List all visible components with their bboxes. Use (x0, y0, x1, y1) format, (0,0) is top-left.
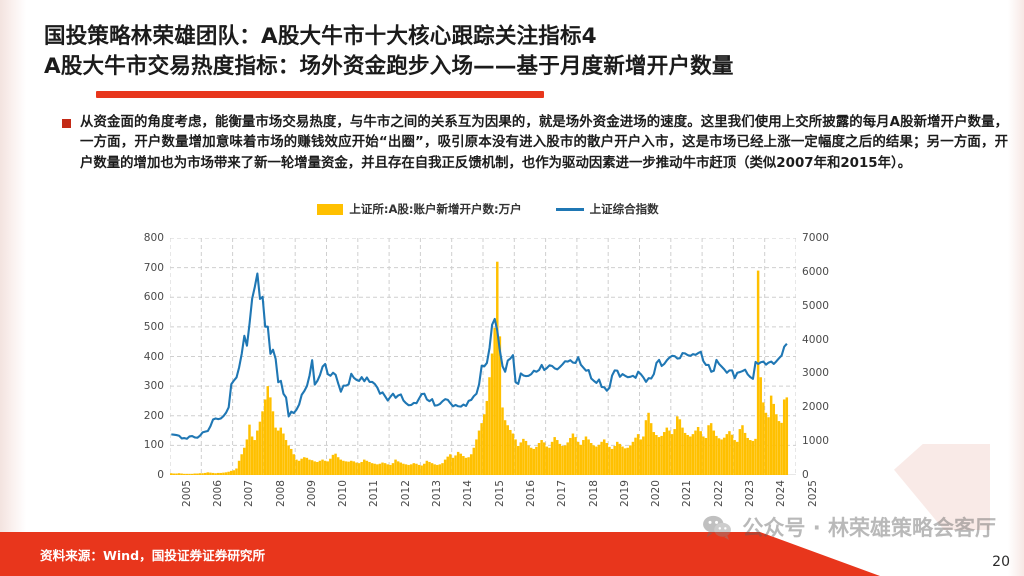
x-tick: 2024 (775, 480, 787, 507)
y-left-tick: 700 (144, 262, 164, 274)
y-axis-left: 0100200300400500600700800 (108, 238, 164, 475)
plot-area (170, 238, 796, 475)
watermark: 公众号 · 林荣雄策略会客厅 (702, 512, 996, 542)
watermark-text: 公众号 · 林荣雄策略会客厅 (742, 512, 996, 542)
plot-svg (170, 238, 796, 475)
x-tick: 2014 (462, 480, 474, 507)
page-number: 20 (992, 554, 1010, 570)
x-tick: 2020 (650, 480, 662, 507)
y-right-tick: 4000 (802, 334, 829, 346)
x-tick: 2023 (744, 480, 756, 507)
bar-series (170, 262, 788, 475)
x-tick: 2016 (525, 480, 537, 507)
title-line-1: 国投策略林荣雄团队：A股大牛市十大核心跟踪关注指标4 (44, 22, 1004, 52)
chart-legend: 上证所:A股:账户新增开户数:万户 上证综合指数 (108, 198, 868, 220)
x-tick: 2013 (431, 480, 443, 507)
x-tick: 2010 (337, 480, 349, 507)
page-title: 国投策略林荣雄团队：A股大牛市十大核心跟踪关注指标4 A股大牛市交易热度指标：场… (44, 22, 1004, 82)
slide-root: 国投策略林荣雄团队：A股大牛市十大核心跟踪关注指标4 A股大牛市交易热度指标：场… (0, 0, 1024, 576)
legend-swatch-line-icon (556, 208, 584, 211)
legend-item-line: 上证综合指数 (556, 201, 659, 217)
y-right-tick: 1000 (802, 435, 829, 447)
y-right-tick: 5000 (802, 300, 829, 312)
x-tick: 2021 (681, 480, 693, 507)
title-underline (96, 91, 544, 98)
x-tick: 2007 (243, 480, 255, 507)
left-edge-decoration (0, 0, 26, 576)
y-left-tick: 600 (144, 291, 164, 303)
x-tick: 2017 (556, 480, 568, 507)
y-right-tick: 6000 (802, 266, 829, 278)
title-line-2: A股大牛市交易热度指标：场外资金跑步入场——基于月度新增开户数量 (44, 52, 1004, 82)
legend-swatch-bar-icon (317, 204, 343, 215)
legend-item-bars: 上证所:A股:账户新增开户数:万户 (317, 201, 521, 217)
y-left-tick: 200 (144, 410, 164, 422)
legend-label-bars: 上证所:A股:账户新增开户数:万户 (349, 201, 521, 217)
y-right-tick: 2000 (802, 401, 829, 413)
chart-container: 上证所:A股:账户新增开户数:万户 上证综合指数 010020030040050… (108, 198, 868, 528)
x-tick: 2018 (588, 480, 600, 507)
x-tick: 2019 (619, 480, 631, 507)
source-label: 资料来源：Wind，国投证券证券研究所 (40, 545, 265, 564)
y-left-tick: 0 (157, 469, 164, 481)
y-left-tick: 100 (144, 439, 164, 451)
x-tick: 2005 (181, 480, 193, 507)
right-edge-decoration (1008, 0, 1024, 576)
bullet-paragraph-text: 从资金面的角度考虑，能衡量市场交易热度，与牛市之间的关系互为因果的，就是场外资金… (80, 113, 1008, 174)
legend-label-line: 上证综合指数 (590, 201, 659, 217)
x-tick: 2011 (368, 480, 380, 507)
y-right-tick: 7000 (802, 232, 829, 244)
y-axis-right: 01000200030004000500060007000 (802, 238, 862, 475)
y-right-tick: 3000 (802, 367, 829, 379)
x-tick: 2025 (807, 480, 819, 507)
wechat-icon (702, 514, 732, 540)
y-left-tick: 300 (144, 380, 164, 392)
x-tick: 2008 (275, 480, 287, 507)
bullet-paragraph: 从资金面的角度考虑，能衡量市场交易热度，与牛市之间的关系互为因果的，就是场外资金… (62, 113, 1012, 174)
y-left-tick: 400 (144, 351, 164, 363)
x-tick: 2022 (713, 480, 725, 507)
x-tick: 2012 (400, 480, 412, 507)
x-tick: 2009 (306, 480, 318, 507)
square-bullet-icon (62, 119, 71, 128)
x-tick: 2015 (494, 480, 506, 507)
y-left-tick: 500 (144, 321, 164, 333)
y-left-tick: 800 (144, 232, 164, 244)
x-tick: 2006 (212, 480, 224, 507)
